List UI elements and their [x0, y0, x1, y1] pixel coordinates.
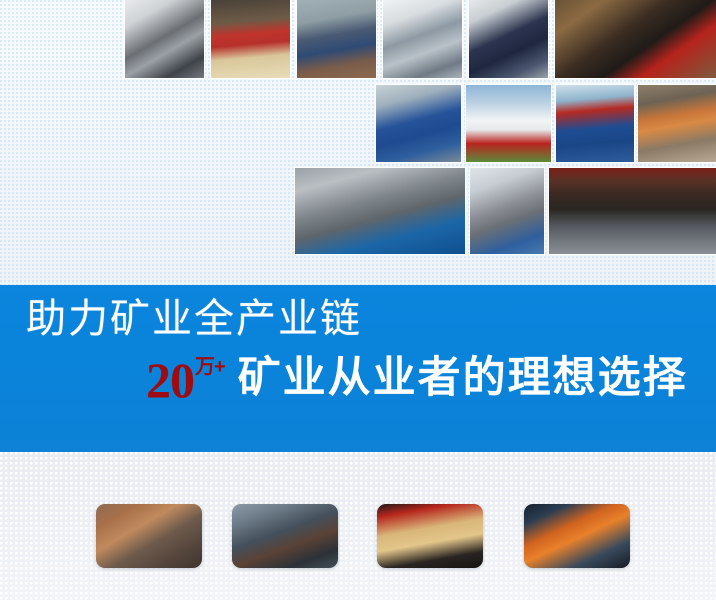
- photo-engineers-workshop: [469, 0, 548, 78]
- promo-page: 助力矿业全产业链 20 万+ 矿业从业者的理想选择: [0, 0, 716, 600]
- photo-conference-group-photo: [549, 168, 716, 254]
- headline-number-superscript: 万+: [195, 357, 225, 377]
- photo-mosaic: [0, 0, 716, 256]
- photo-mine-site-blue-uniform: [556, 85, 634, 162]
- photo-technician-flask: [470, 168, 544, 254]
- thumb-smelting-furnace-worker: [524, 504, 630, 568]
- thumb-underground-workers-red-helmets: [377, 504, 483, 568]
- photo-chairman-office-flags: [555, 0, 716, 78]
- photo-lab-instrument-operator: [125, 0, 204, 78]
- headline-line-2: 20 万+ 矿业从业者的理想选择: [146, 357, 688, 403]
- photo-lab-sample-testing: [383, 0, 462, 78]
- headline-line-1: 助力矿业全产业链: [26, 299, 362, 339]
- thumb-geologist-field-sampling: [96, 504, 202, 568]
- photo-company-signage-wall: [295, 168, 465, 254]
- headline-banner: 助力矿业全产业链 20 万+ 矿业从业者的理想选择: [0, 285, 716, 452]
- photo-field-crew-van: [638, 85, 716, 162]
- headline-number: 20: [146, 357, 194, 403]
- headline-line-2-text: 矿业从业者的理想选择: [238, 357, 688, 400]
- thumbnail-strip: [0, 504, 716, 574]
- photo-banner-event-outdoor: [466, 85, 551, 162]
- photo-workers-group-blue: [376, 85, 461, 162]
- photo-award-ceremony-stage: [211, 0, 290, 78]
- thumb-miner-helmet-smiling: [232, 504, 338, 568]
- photo-field-team-mountain: [297, 0, 376, 78]
